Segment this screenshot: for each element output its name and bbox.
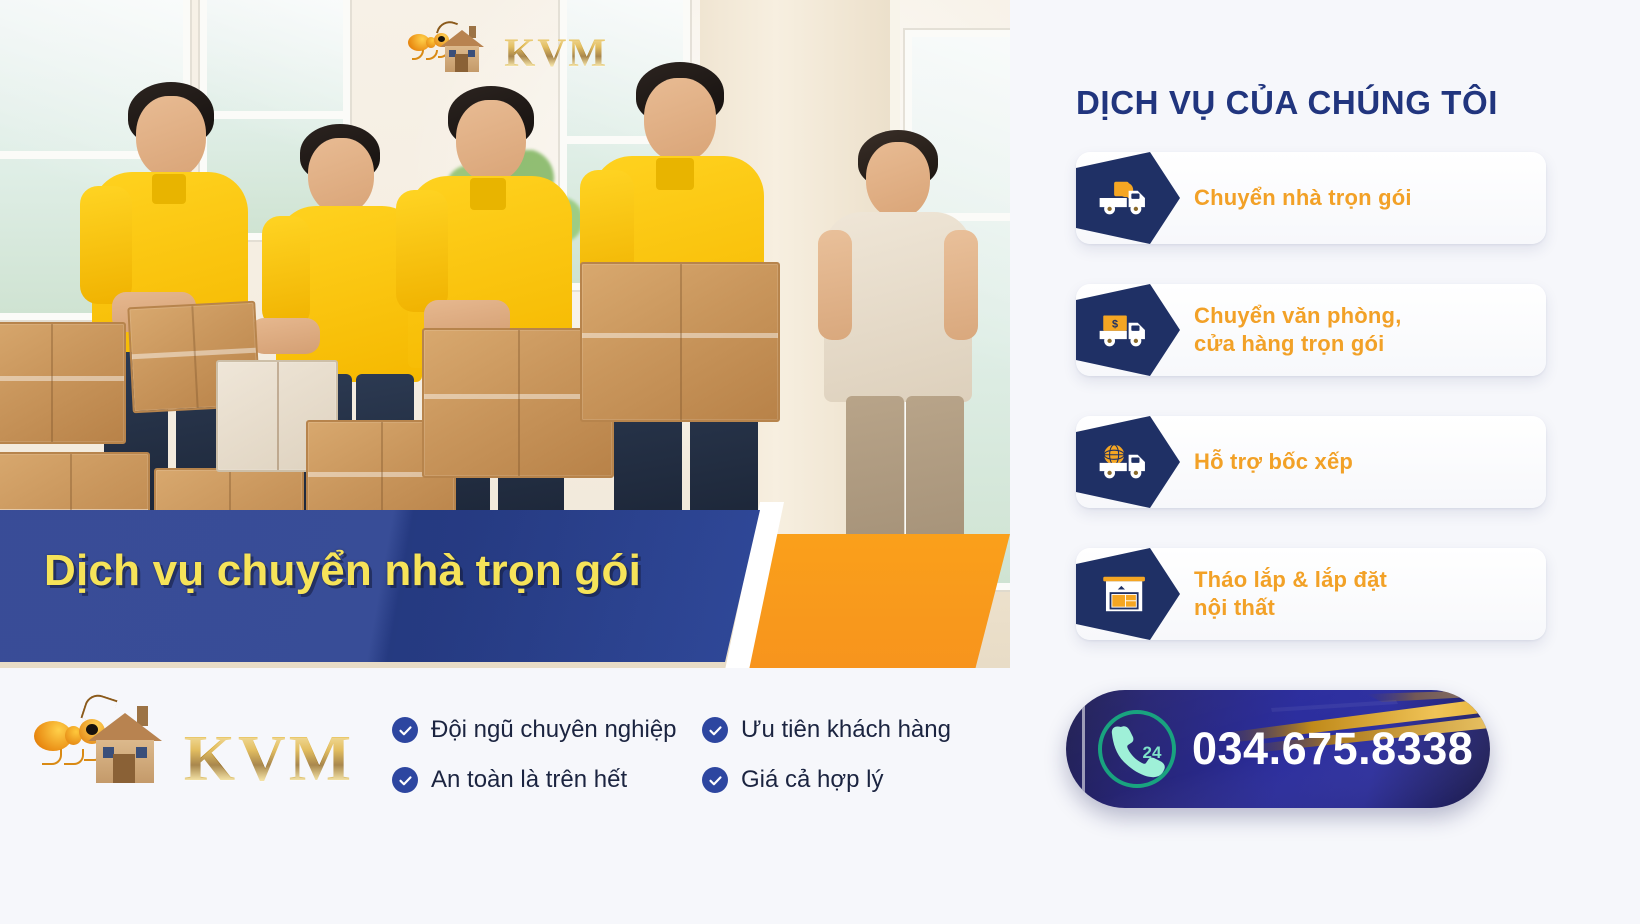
svg-text:$: $: [1112, 318, 1118, 330]
service-label: Hỗ trợ bốc xếp: [1194, 448, 1353, 476]
feature-label: Ưu tiên khách hàng: [741, 716, 951, 744]
service-label: Chuyển văn phòng, cửa hàng trọn gói: [1194, 302, 1402, 358]
phone-24h-icon: 24: [1094, 706, 1180, 792]
service-card-1[interactable]: Chuyển nhà trọn gói: [1076, 152, 1546, 244]
services-list: Chuyển nhà trọn gói $ Chuyển văn phòng, …: [1076, 152, 1546, 680]
footer-strip: KVM Đội ngũ chuyên nghiệp Ưu tiên khách …: [0, 668, 1010, 924]
hero-title: Dịch vụ chuyển nhà trọn gói: [44, 546, 744, 596]
warehouse-with-boxes-icon: [1076, 548, 1180, 640]
feature-label: Đội ngũ chuyên nghiệp: [431, 716, 677, 744]
two-ants-carrying-house-icon: [34, 703, 176, 815]
feature-label: Giá cả hợp lý: [741, 766, 883, 794]
cardboard-box: [580, 262, 780, 422]
services-panel: DỊCH VỤ CỦA CHÚNG TÔI Chuyển nhà t: [1010, 0, 1640, 924]
truck-with-furniture-icon: [1076, 152, 1180, 244]
service-card-3[interactable]: Hỗ trợ bốc xếp: [1076, 416, 1546, 508]
hero-photo: KVM Dịch vụ chuyển nhà trọn gói: [0, 0, 1010, 668]
brand-logo-footer: KVM: [34, 700, 354, 818]
check-circle-icon: [702, 717, 728, 743]
house-icon: [440, 30, 484, 72]
services-heading: DỊCH VỤ CỦA CHÚNG TÔI: [1076, 84, 1498, 122]
feature-list: Đội ngũ chuyên nghiệp Ưu tiên khách hàng…: [392, 716, 951, 794]
service-card-2[interactable]: $ Chuyển văn phòng, cửa hàng trọn gói: [1076, 284, 1546, 376]
check-circle-icon: [392, 717, 418, 743]
truck-with-globe-icon: [1076, 416, 1180, 508]
brand-wordmark: KVM: [184, 721, 354, 797]
service-card-4[interactable]: Tháo lắp & lắp đặt nội thất: [1076, 548, 1546, 640]
feature-item: An toàn là trên hết: [392, 766, 702, 794]
brand-wordmark: KVM: [504, 29, 608, 76]
poster-root: KVM Dịch vụ chuyển nhà trọn gói: [0, 0, 1640, 924]
brand-logo-top: KVM: [408, 22, 608, 82]
service-label: Chuyển nhà trọn gói: [1194, 184, 1412, 212]
two-ants-carrying-house-icon: [408, 24, 500, 80]
truck-with-money-box-icon: $: [1076, 284, 1180, 376]
phone-cta-badge[interactable]: 24 034.675.8338: [1066, 690, 1490, 808]
feature-item: Đội ngũ chuyên nghiệp: [392, 716, 702, 744]
phone-number: 034.675.8338: [1192, 723, 1473, 775]
feature-item: Ưu tiên khách hàng: [702, 716, 951, 744]
check-circle-icon: [702, 767, 728, 793]
hero-banner: Dịch vụ chuyển nhà trọn gói: [0, 498, 1010, 668]
house-icon: [88, 713, 162, 783]
badge-edge-accent: [1082, 704, 1085, 794]
check-circle-icon: [392, 767, 418, 793]
feature-item: Giá cả hợp lý: [702, 766, 951, 794]
phone-hours-text: 24: [1143, 743, 1162, 762]
feature-label: An toàn là trên hết: [431, 766, 627, 794]
cardboard-box: [0, 322, 126, 444]
service-label: Tháo lắp & lắp đặt nội thất: [1194, 566, 1387, 622]
